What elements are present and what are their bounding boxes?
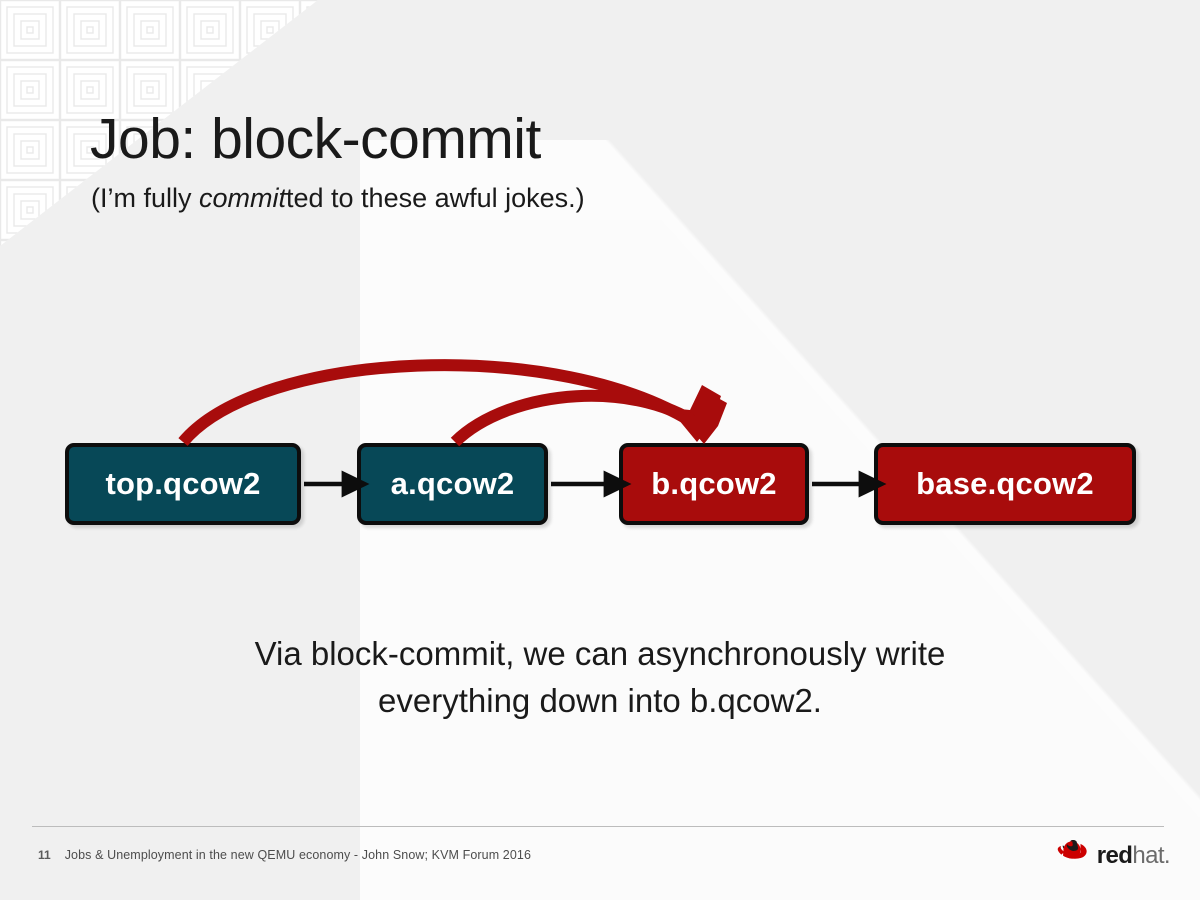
node-b-qcow2: b.qcow2 <box>619 443 809 525</box>
slide-subtitle: (I’m fully committed to these awful joke… <box>91 183 585 214</box>
commit-arrow-a-to-b <box>455 393 727 444</box>
node-label: base.qcow2 <box>916 466 1094 502</box>
caption-line-2: everything down into b.qcow2. <box>0 677 1200 724</box>
redhat-logo: redhat. <box>1056 840 1170 871</box>
node-label: b.qcow2 <box>651 466 776 502</box>
logo-hat-text: hat. <box>1132 842 1170 869</box>
node-base-qcow2: base.qcow2 <box>874 443 1136 525</box>
commit-arrow-top-to-b <box>183 365 721 442</box>
node-label: a.qcow2 <box>391 466 515 502</box>
block-chain-diagram: top.qcow2 a.qcow2 b.qcow2 base.qcow2 <box>0 330 1200 560</box>
subtitle-prefix: (I’m fully <box>91 183 199 213</box>
footer-divider <box>32 826 1164 827</box>
slide-title: Job: block-commit <box>90 106 541 172</box>
node-a-qcow2: a.qcow2 <box>357 443 548 525</box>
subtitle-suffix: ted to these awful jokes.) <box>286 183 585 213</box>
caption-line-1: Via block-commit, we can asynchronously … <box>0 630 1200 677</box>
logo-red-text: red <box>1097 842 1133 869</box>
subtitle-italic-word: commit <box>199 183 286 213</box>
redhat-shadowman-icon <box>1056 840 1090 871</box>
page-number: 11 <box>38 848 51 862</box>
footer-text: Jobs & Unemployment in the new QEMU econ… <box>65 848 531 862</box>
node-label: top.qcow2 <box>105 466 260 502</box>
slide: Job: block-commit (I’m fully committed t… <box>0 0 1200 900</box>
diagonal-band-outer <box>400 220 1200 900</box>
footer: 11 Jobs & Unemployment in the new QEMU e… <box>38 848 531 862</box>
redhat-wordmark: redhat. <box>1097 844 1170 868</box>
node-top-qcow2: top.qcow2 <box>65 443 301 525</box>
slide-caption: Via block-commit, we can asynchronously … <box>0 630 1200 724</box>
